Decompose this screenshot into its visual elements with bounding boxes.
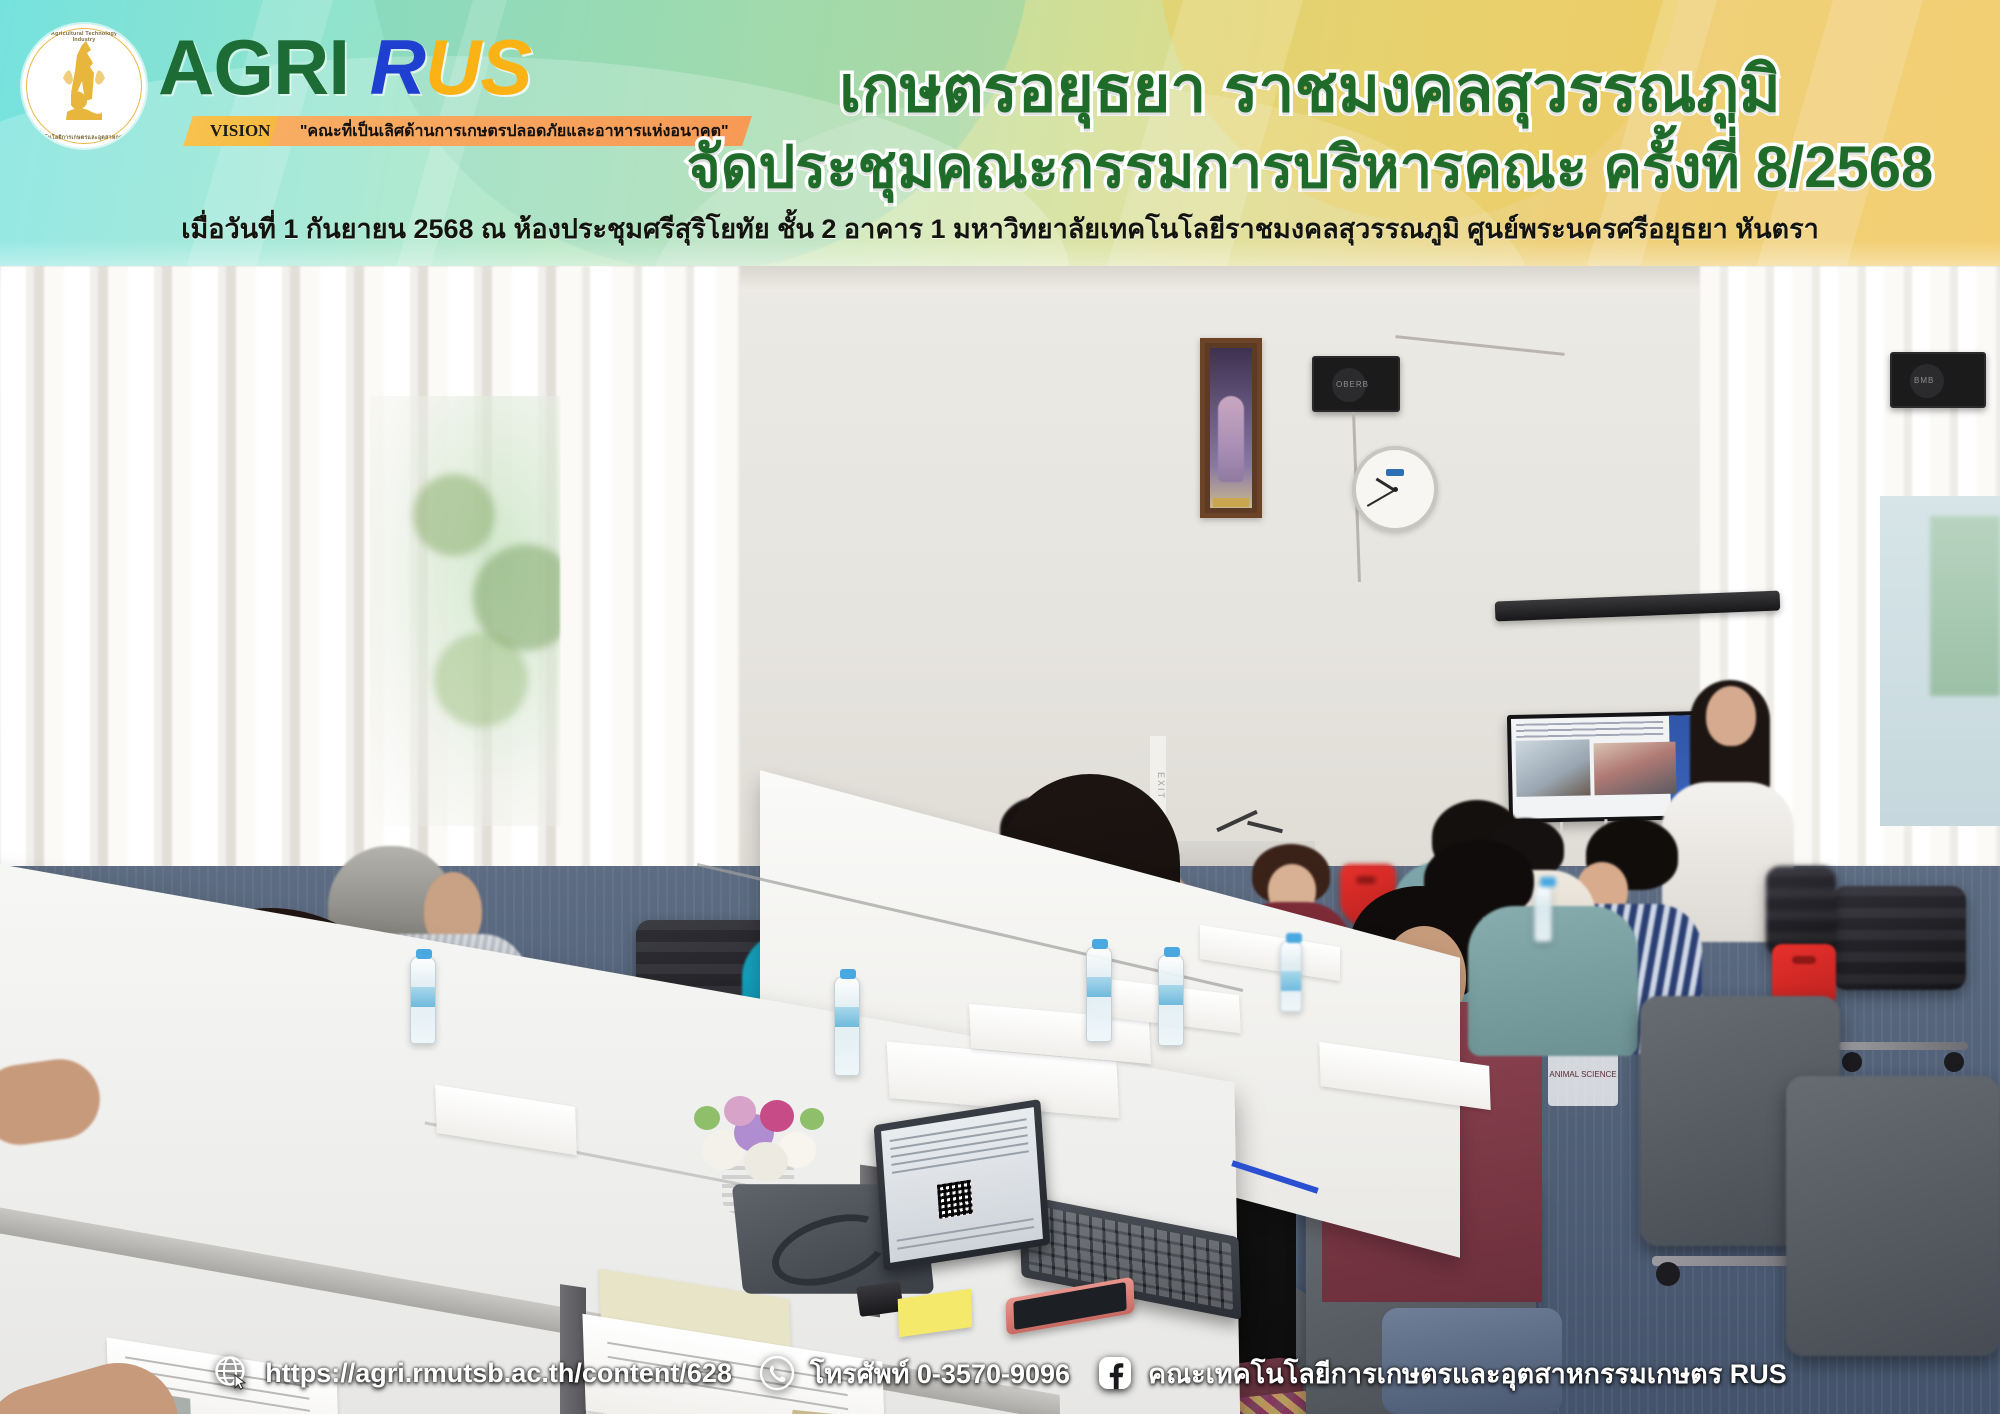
- bottle-label: [1281, 971, 1301, 991]
- office-chair: [1832, 886, 1966, 990]
- footer-phone[interactable]: โทรศัพท์ 0-3570-9096: [758, 1352, 1070, 1395]
- brand-r-text: R: [370, 23, 425, 111]
- footer-facebook[interactable]: คณะเทคโนโลยีการเกษตรและอุตสาหกรรมเกษตร R…: [1096, 1352, 1787, 1395]
- window-blinds-center: [560, 266, 740, 906]
- event-subtitle: เมื่อวันที่ 1 กันยายน 2568 ณ ห้องประชุมศ…: [0, 207, 2000, 250]
- chair-caster: [1656, 1262, 1680, 1286]
- red-chair-handle-slot: [1356, 876, 1376, 884]
- water-bottle: [834, 976, 860, 1076]
- bottle-label: [1087, 977, 1111, 997]
- meeting-photograph: OBERB BMB EXIT: [0, 266, 2000, 1414]
- red-chair-handle-slot: [1792, 956, 1816, 964]
- bottle-label: [411, 987, 435, 1007]
- brand-wordmark: AGRI RUS: [158, 28, 531, 106]
- chair-base: [1838, 1042, 1968, 1050]
- clock-logo: [1386, 469, 1404, 476]
- faculty-crest-logo: Faculty of Agricultural Technology and A…: [22, 24, 146, 148]
- chair-caster: [1842, 1052, 1862, 1072]
- body: [1468, 906, 1638, 1056]
- foliage: [800, 1108, 824, 1130]
- slide-photo-left: [1515, 739, 1590, 797]
- portrait-figure: [1218, 396, 1244, 482]
- website-url-text: https://agri.rmutsb.ac.th/content/628: [265, 1358, 732, 1389]
- water-bottle: [1086, 946, 1112, 1042]
- polo-logo: ANIMAL SCIENCE: [1548, 1052, 1618, 1106]
- water-bottle: [1280, 940, 1302, 1012]
- bottle-cap: [416, 949, 432, 959]
- speaker-brand: BMB: [1914, 376, 1934, 385]
- headline-line-1: เกษตรอยุธยา ราชมงคลสุวรรณภูมิ: [620, 52, 2000, 128]
- speaker-brand: OBERB: [1336, 380, 1369, 389]
- phone-icon: [758, 1354, 796, 1392]
- flower: [724, 1096, 756, 1126]
- brand-agri-text: AGRI: [158, 23, 349, 111]
- portrait-canvas: [1210, 348, 1252, 508]
- flower: [760, 1100, 794, 1132]
- brand-us-text: US: [425, 23, 531, 111]
- facebook-icon: [1096, 1354, 1134, 1392]
- bottle-cap: [1092, 939, 1108, 949]
- facebook-page-text: คณะเทคโนโลยีการเกษตรและอุตสาหกรรมเกษตร R…: [1148, 1352, 1787, 1395]
- wall-speaker-icon: BMB: [1890, 352, 1986, 408]
- headline-line-2: จัดประชุมคณะกรรมการบริหารคณะ ครั้งที่ 8/…: [620, 134, 2000, 202]
- clock-minute-hand: [1367, 489, 1396, 507]
- crest-arc-bottom-text: คณะเทคโนโลยีการเกษตรและอุตสาหกรรมเกษตร: [22, 134, 146, 142]
- clock-center-pin: [1393, 487, 1398, 492]
- window-right-foliage: [1930, 516, 2000, 696]
- footer-website[interactable]: https://agri.rmutsb.ac.th/content/628: [213, 1354, 732, 1392]
- window-greenery: [400, 416, 580, 746]
- slide-photo-right: [1594, 742, 1677, 796]
- bottle-cap: [1540, 877, 1556, 887]
- slide-heading-lines: [1516, 721, 1663, 738]
- foliage: [694, 1106, 720, 1130]
- water-bottle: [1158, 954, 1184, 1046]
- poster-root: Faculty of Agricultural Technology and A…: [0, 0, 2000, 1414]
- wall-clock-icon: [1352, 446, 1438, 532]
- globe-icon: [213, 1354, 251, 1392]
- crest-figure-icon: [61, 38, 107, 124]
- wall-speaker-icon: OBERB: [1312, 356, 1400, 412]
- bottle-cap: [1286, 933, 1302, 943]
- bottle-cap: [840, 969, 856, 979]
- bottle-label: [835, 1007, 859, 1027]
- office-chair: [1766, 866, 1836, 956]
- presenter-head: [1706, 686, 1756, 746]
- phone-number-text: โทรศัพท์ 0-3570-9096: [810, 1352, 1070, 1395]
- footer-contact-bar: https://agri.rmutsb.ac.th/content/628 โท…: [0, 1346, 2000, 1400]
- water-bottle: [410, 956, 436, 1044]
- display-qr-code: [937, 1180, 973, 1219]
- portrait-plaque: [1213, 498, 1249, 507]
- chair-caster: [1944, 1052, 1964, 1072]
- laptop-display: [881, 1107, 1043, 1263]
- water-bottle: [1534, 884, 1552, 942]
- bottle-label: [1159, 985, 1183, 1005]
- vision-label-text: VISION: [210, 121, 270, 141]
- header-banner: Faculty of Agricultural Technology and A…: [0, 0, 2000, 266]
- office-chair-grey: [1786, 1076, 2000, 1356]
- laptop-screen: [874, 1099, 1051, 1271]
- royal-portrait-frame: [1200, 338, 1262, 518]
- bottle-cap: [1164, 947, 1180, 957]
- flower: [744, 1142, 788, 1182]
